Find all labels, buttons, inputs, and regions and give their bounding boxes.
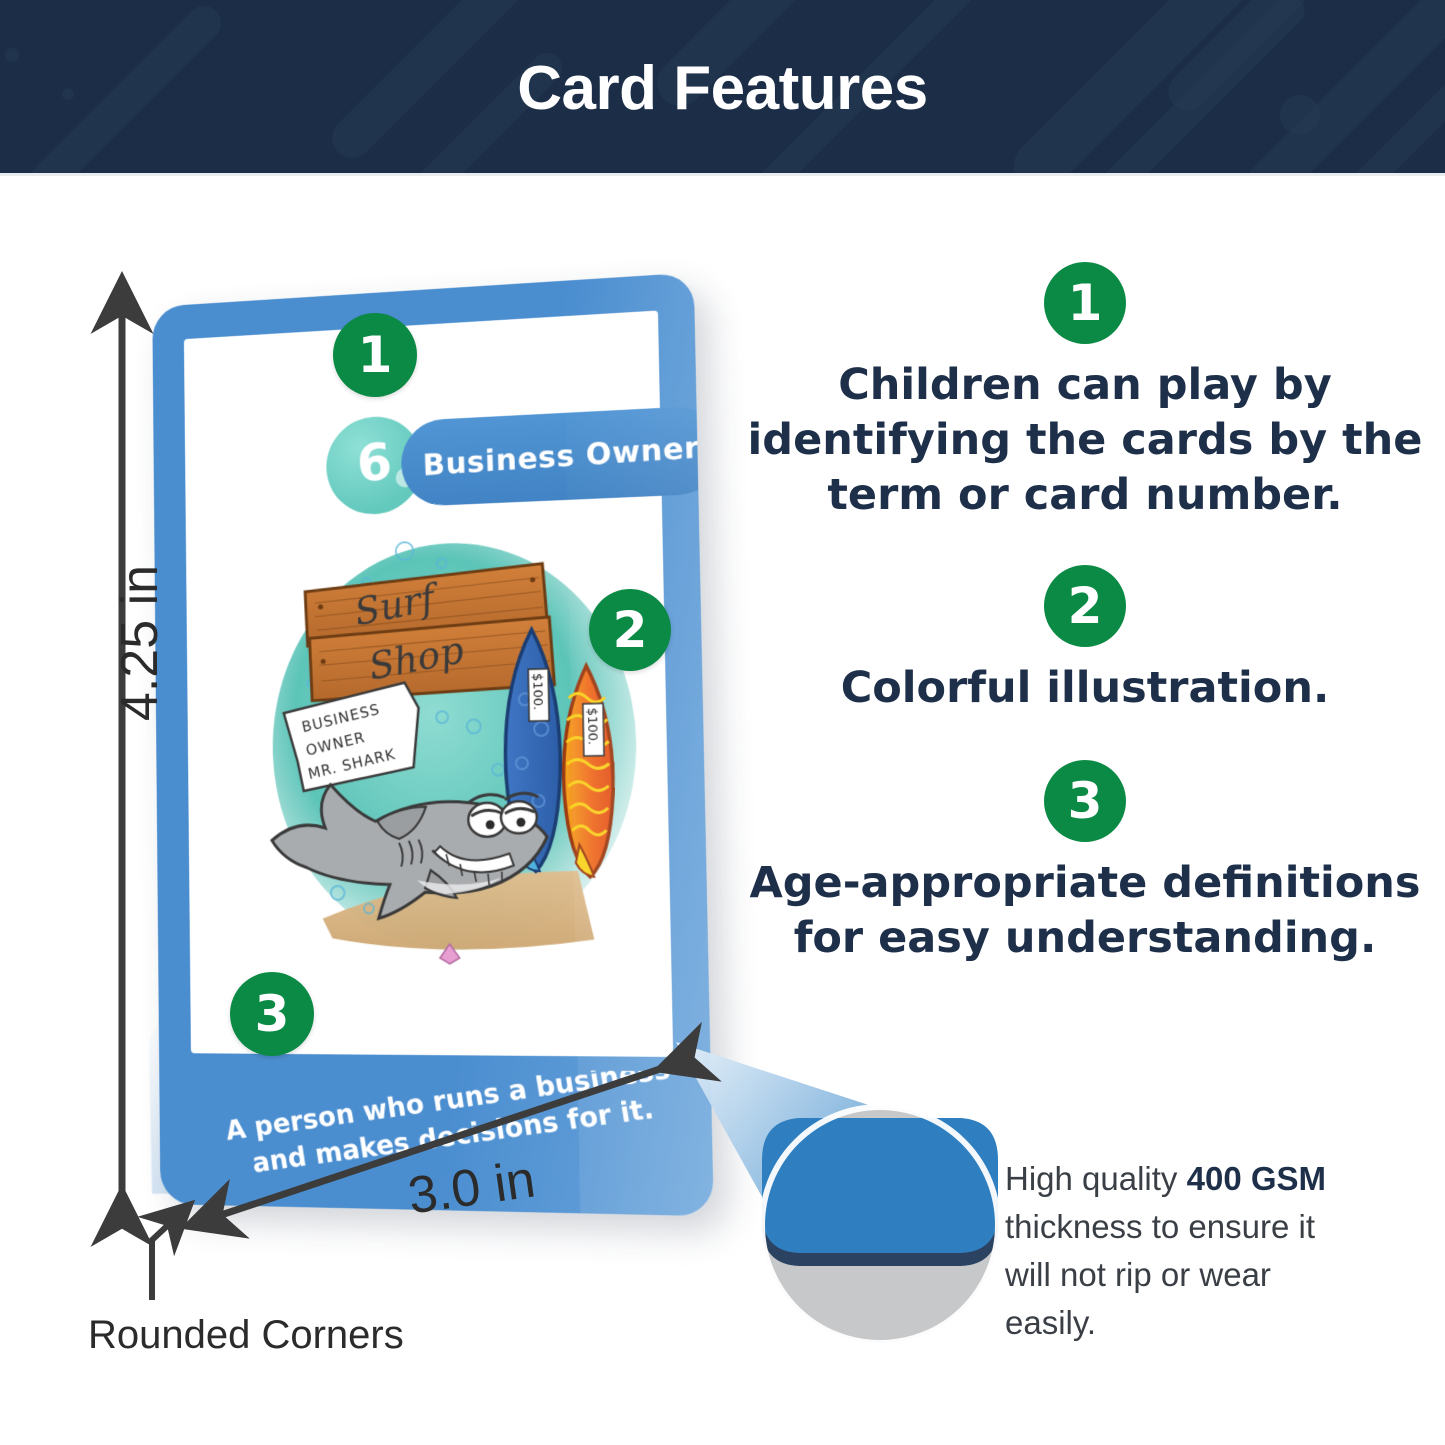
card-number: 6	[355, 432, 395, 494]
feature-item-1: 1 Children can play by identifying the c…	[735, 262, 1435, 523]
feature-text-1: Children can play by identifying the car…	[735, 358, 1435, 523]
card-height-label: 4.25 in	[110, 565, 170, 721]
svg-text:$100.: $100.	[529, 673, 545, 710]
gsm-prefix: High quality	[1005, 1160, 1187, 1197]
card-illustration: Surf Shop	[251, 515, 672, 991]
card-header-row: 6 Business Owner	[326, 395, 714, 513]
card-badge-1: 1	[333, 313, 417, 397]
feature-item-2: 2 Colorful illustration.	[735, 565, 1435, 716]
feature-text-2: Colorful illustration.	[735, 661, 1435, 716]
gsm-suffix: thickness to ensure it will not rip or w…	[1005, 1208, 1315, 1341]
svg-text:$100.: $100.	[584, 707, 600, 745]
card-badge-2: 2	[589, 589, 671, 671]
feature-badge-3: 3	[1044, 760, 1126, 842]
rounded-corners-label: Rounded Corners	[88, 1313, 404, 1358]
card-term-pill: Business Owner	[401, 405, 714, 507]
product-card[interactable]: 6 Business Owner	[152, 272, 714, 1216]
page-header: Card Features	[0, 0, 1445, 176]
card-term: Business Owner	[422, 430, 700, 483]
feature-badge-2: 2	[1044, 565, 1126, 647]
card-badge-3: 3	[230, 972, 314, 1056]
gsm-value: 400 GSM	[1187, 1160, 1326, 1197]
feature-text-3: Age-appropriate definitions for easy und…	[735, 856, 1435, 966]
feature-badge-1: 1	[1044, 262, 1126, 344]
corner-magnifier	[640, 1020, 1020, 1360]
card-white-area: 6 Business Owner	[184, 311, 673, 1057]
gsm-description: High quality 400 GSM thickness to ensure…	[1005, 1155, 1345, 1346]
page-title: Card Features	[0, 0, 1445, 176]
feature-item-3: 3 Age-appropriate definitions for easy u…	[735, 760, 1435, 966]
features-column: 1 Children can play by identifying the c…	[735, 262, 1435, 966]
infographic-root: Card Features A person who runs a busine…	[0, 0, 1445, 1445]
